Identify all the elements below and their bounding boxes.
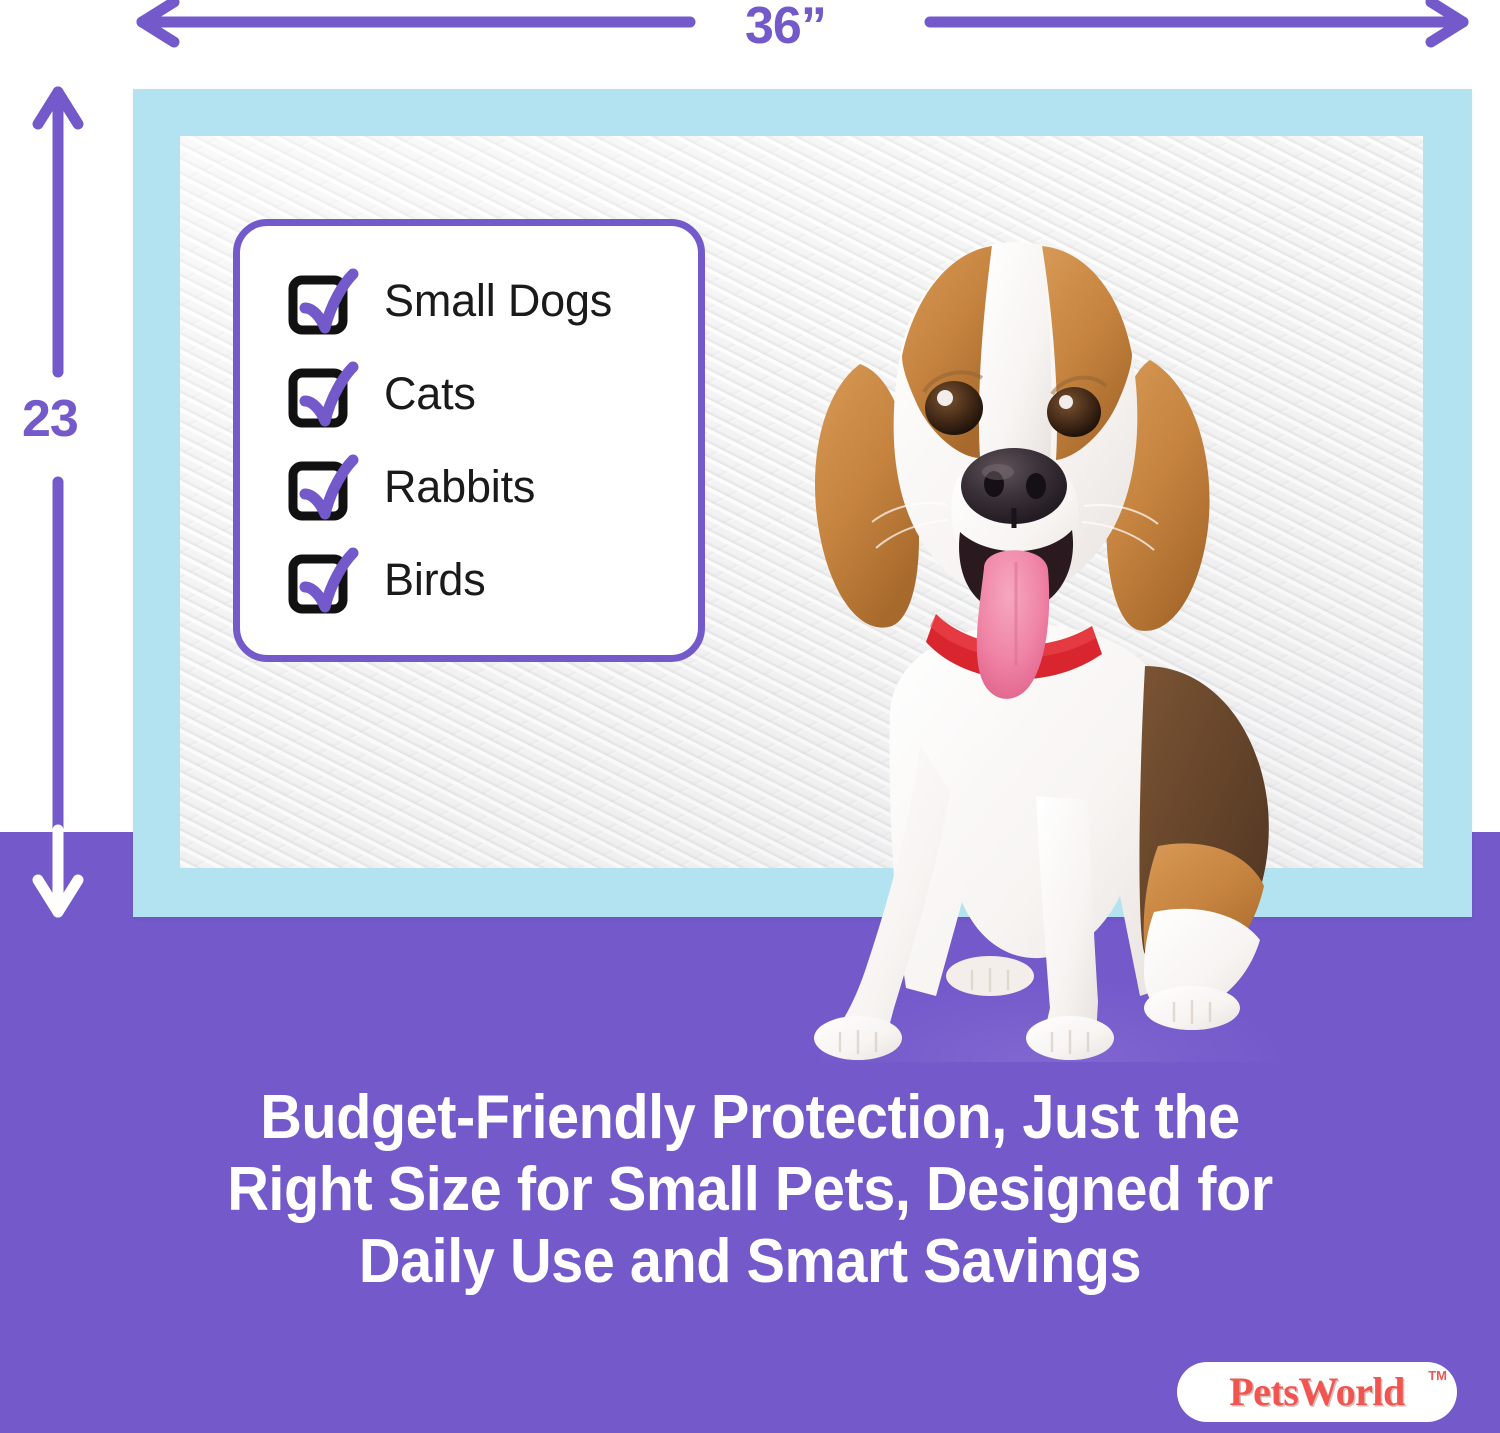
tagline-line-1: Budget-Friendly Protection, Just the [53,1082,1448,1154]
list-item: Small Dogs [286,270,698,332]
list-item: Birds [286,549,698,611]
list-item-label: Cats [384,368,476,420]
checkbox-checked-icon [286,273,342,329]
height-label: 23 [22,389,78,449]
width-label: 36” [745,0,826,56]
checkbox-checked-icon [286,459,342,515]
checkbox-checked-icon [286,552,342,608]
tagline-line-2: Right Size for Small Pets, Designed for [53,1154,1448,1226]
trademark-symbol: TM [1428,1368,1447,1383]
list-item-label: Rabbits [384,461,535,513]
height-dimension-arrow [32,82,84,924]
list-item: Rabbits [286,456,698,518]
tagline-line-3: Daily Use and Smart Savings [53,1226,1448,1298]
compatible-pets-checklist: Small Dogs Cats Rabbits [233,219,705,662]
list-item-label: Small Dogs [384,275,612,327]
brand-logo: PetsWorld TM [1177,1362,1457,1422]
product-infographic: 36” 23 Small Dogs Cats [0,0,1500,1433]
checkbox-checked-icon [286,366,342,422]
list-item: Cats [286,363,698,425]
list-item-label: Birds [384,554,486,606]
brand-name: PetsWorld [1229,1372,1404,1412]
tagline: Budget-Friendly Protection, Just the Rig… [53,1082,1448,1298]
